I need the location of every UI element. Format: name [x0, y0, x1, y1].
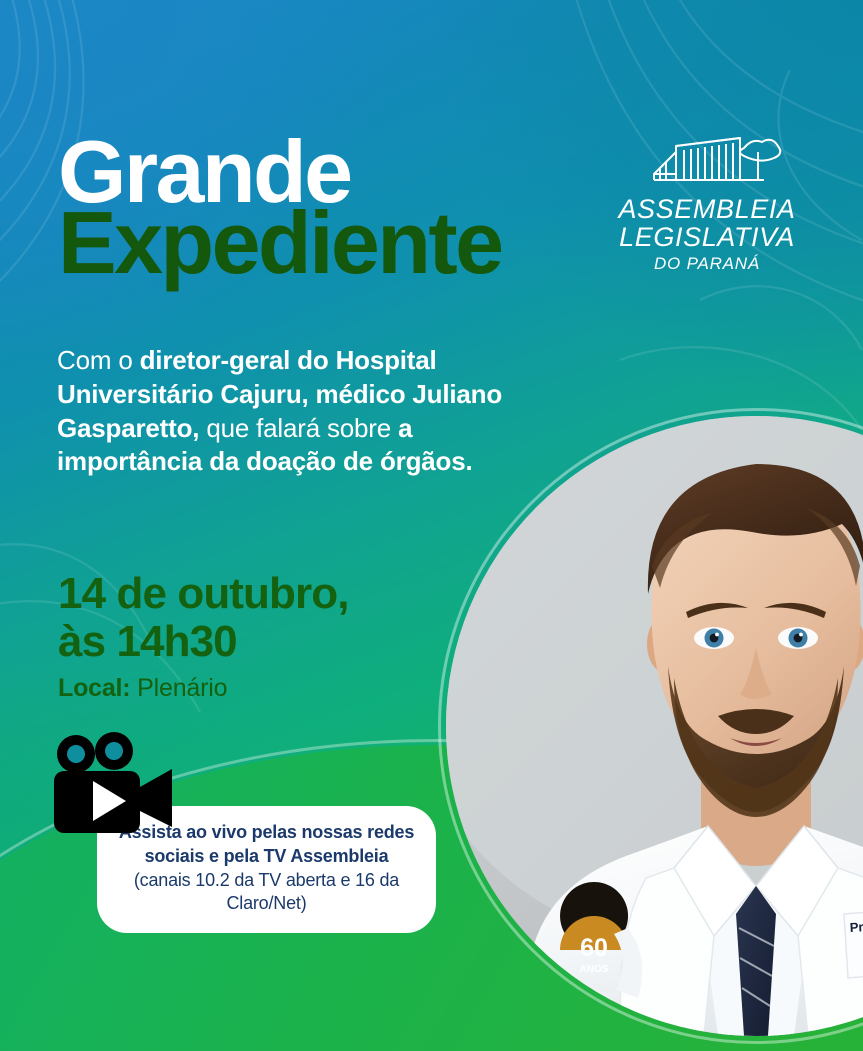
event-description: Com o diretor-geral do Hospital Universi… — [57, 344, 527, 479]
svg-text:ANOS: ANOS — [580, 964, 609, 975]
broadcast-text-plain: (canais 10.2 da TV aberta e 16 da Claro/… — [134, 870, 399, 914]
juliano-gasparetto-portrait: Prof. Juliano Gasp 60 ANOS — [446, 416, 863, 1036]
description-part-3: que falará sobre — [199, 413, 398, 443]
assembleia-building-icon — [632, 130, 782, 190]
description-part-1: Com o — [57, 345, 140, 375]
event-location-value: Plenário — [130, 674, 227, 702]
logo-line-legislativa: LEGISLATIVA — [612, 224, 802, 252]
event-location-label: Local: — [58, 674, 130, 702]
logo-line-assembleia: ASSEMBLEIA — [612, 196, 802, 224]
assembleia-logo: ASSEMBLEIA LEGISLATIVA DO PARANÁ — [612, 130, 802, 274]
event-date-block: 14 de outubro, às 14h30 Local: Plenário — [58, 570, 349, 703]
svg-text:60: 60 — [580, 934, 608, 962]
poster-canvas: Prof. Juliano Gasp 60 ANOS — [0, 0, 863, 1051]
title-line-expediente: Expediente — [58, 204, 501, 281]
portrait-photo: Prof. Juliano Gasp 60 ANOS — [446, 416, 863, 1036]
event-date-time: 14 de outubro, às 14h30 — [58, 570, 349, 665]
logo-line-do-parana: DO PARANÁ — [612, 254, 802, 274]
video-camera-icon — [48, 731, 174, 849]
event-location: Local: Plenário — [58, 674, 349, 703]
page-title: Grande Expediente — [58, 133, 501, 282]
